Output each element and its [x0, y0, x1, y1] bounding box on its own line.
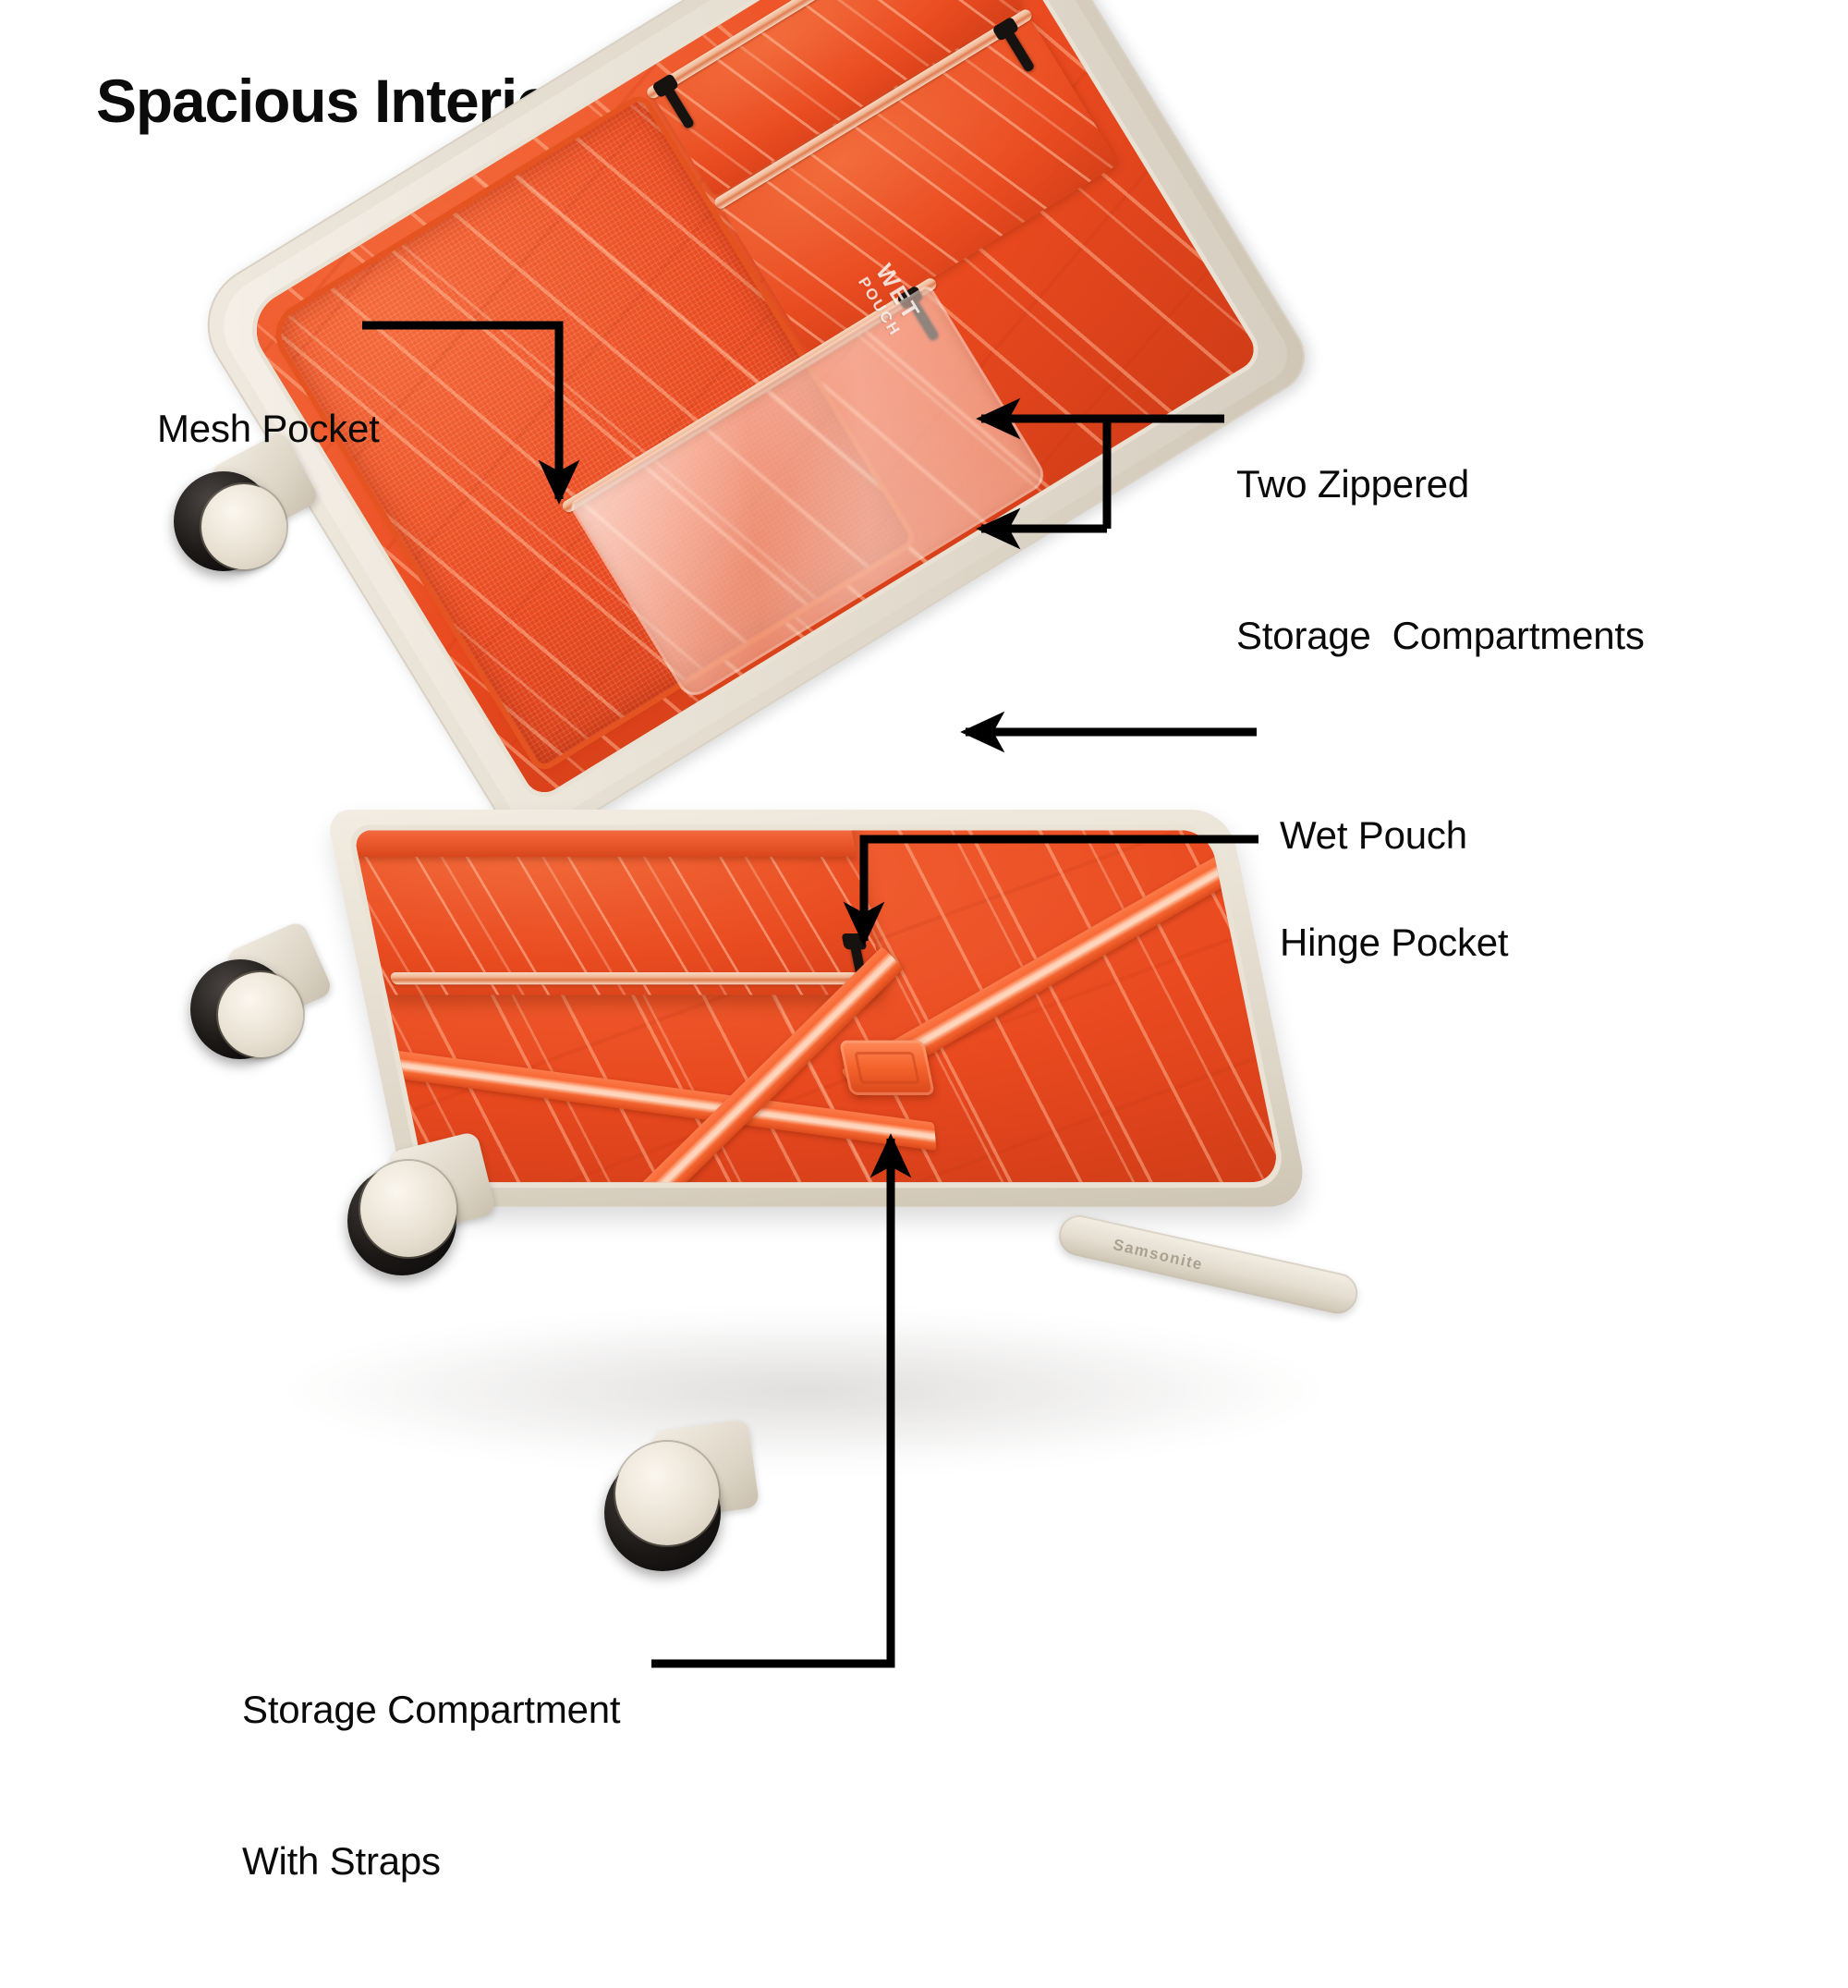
spinner-wheel-mid-left	[185, 924, 342, 1081]
callout-line: Two Zippered	[1236, 459, 1645, 510]
strap-buckle[interactable]	[839, 1041, 935, 1095]
spinner-wheel-bottom-left	[340, 1135, 506, 1301]
base-interior	[353, 831, 1282, 1183]
callout-label-mesh-pocket: Mesh Pocket	[157, 303, 380, 555]
hinge-pocket-roll	[353, 831, 857, 858]
callout-label-two-zippered-storage-compartments: Two Zippered Storage Compartments	[1236, 359, 1645, 762]
callout-line: With Straps	[242, 1836, 620, 1887]
spinner-wheel-bottom-right	[599, 1421, 774, 1597]
suitcase-illustration: WET POUCH	[0, 0, 1848, 1848]
callout-label-hinge-pocket: Hinge Pocket	[1280, 817, 1508, 1069]
callout-line: Mesh Pocket	[157, 404, 380, 455]
wheel-hub	[218, 972, 303, 1057]
callout-line: Storage Compartment	[242, 1685, 620, 1736]
infographic-canvas: Spacious Interior	[0, 0, 1848, 1848]
ground-shadow	[277, 1312, 1331, 1470]
wheel-hub	[360, 1161, 456, 1257]
hinge-pocket[interactable]	[353, 831, 885, 995]
wheel-hub	[615, 1442, 719, 1545]
zipper-track-hinge-pocket[interactable]	[390, 972, 887, 984]
callout-line: Storage Compartments	[1236, 611, 1645, 662]
callout-line: Hinge Pocket	[1280, 918, 1508, 969]
callout-label-storage-compartment-with-straps: Storage Compartment With Straps	[242, 1584, 620, 1988]
